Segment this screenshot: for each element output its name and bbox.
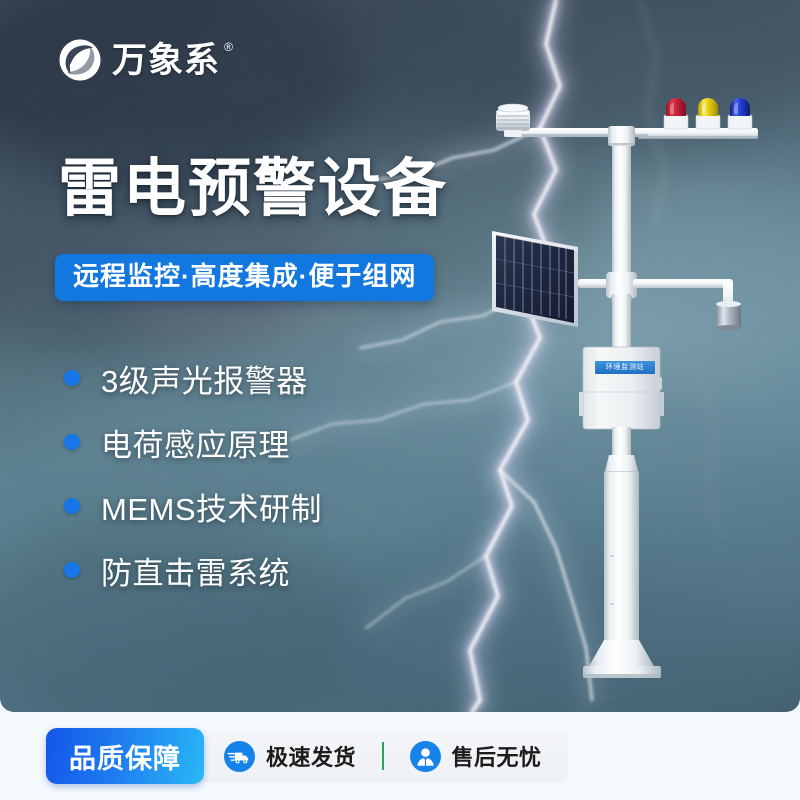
service-fast-shipping: 极速发货 [224,740,356,772]
rain-sensor-arm [633,279,741,331]
solar-mount-arm [578,279,618,288]
bullet-dot-icon [64,498,80,514]
brand-name-wrap: 万象系® [112,43,220,78]
feature-item: 防直击雷系统 [64,538,322,602]
alarm-beacon-red [664,98,688,129]
feature-item: MEMS技术研制 [64,474,322,538]
delivery-truck-icon [224,741,255,772]
beacon-bar [638,128,758,139]
box-latch [657,377,662,390]
bullet-dot-icon [64,434,80,450]
registered-mark: ® [224,41,234,53]
services-group: 极速发货 售后无忧 [190,730,568,782]
subtitle-text: 远程监控·高度集成·便于组网 [73,261,416,291]
control-box-label: 环境监测站 [595,361,655,374]
service-label: 极速发货 [266,740,356,772]
feature-label: 电荷感应原理 [101,420,290,465]
bullet-dot-icon [64,370,80,386]
service-label: 售后无忧 [452,740,542,772]
brand-name: 万象系 [112,41,220,80]
quality-guarantee-badge: 品质保障 [46,728,204,784]
feature-list: 3级声光报警器 电荷感应原理 MEMS技术研制 防直击雷系统 [64,346,322,602]
feature-label: MEMS技术研制 [101,484,322,529]
cloud-wisp [430,400,800,650]
mast-lower-thin [612,427,631,459]
cloud-wisp [540,180,800,370]
base-plate [583,640,661,678]
feature-label: 3级声光报警器 [101,356,308,401]
feature-label: 防直击雷系统 [101,548,290,593]
feature-item: 电荷感应原理 [64,410,322,474]
alarm-beacon-blue [728,98,752,129]
solar-panel [492,231,578,327]
quality-guarantee-label: 品质保障 [69,737,181,776]
radiation-shield-sensor [496,104,530,137]
cross-arm-top [504,128,648,137]
bottom-trust-bar: 品质保障 极速发货 [0,712,800,800]
cloud-wisp [180,0,560,160]
feature-item: 3级声光报警器 [64,346,322,410]
mast-cross-joint [606,272,637,301]
control-box [579,347,664,429]
mast-sleeve-joint [604,455,639,475]
mast-collar-top [608,126,635,146]
service-divider [382,742,384,770]
mast-upper [612,132,631,277]
support-agent-icon [410,741,441,772]
rain-sensor [716,304,741,328]
cloud-wisp [300,560,760,712]
promo-page: 万象系® 雷电预警设备 远程监控·高度集成·便于组网 3级声光报警器 电荷感应原… [0,0,800,800]
subtitle-badge: 远程监控·高度集成·便于组网 [55,254,434,301]
page-title: 雷电预警设备 [58,158,448,221]
brand-logo: 万象系® [58,38,220,82]
mast-mid [612,294,631,356]
service-after-sales: 售后无忧 [410,740,542,772]
cloud-wisp [420,0,800,150]
wanxiangxi-swirl-logo-icon [58,38,102,82]
mast-lower-thick [604,472,639,658]
bullet-dot-icon [64,562,80,578]
alarm-beacon-yellow [696,98,720,129]
